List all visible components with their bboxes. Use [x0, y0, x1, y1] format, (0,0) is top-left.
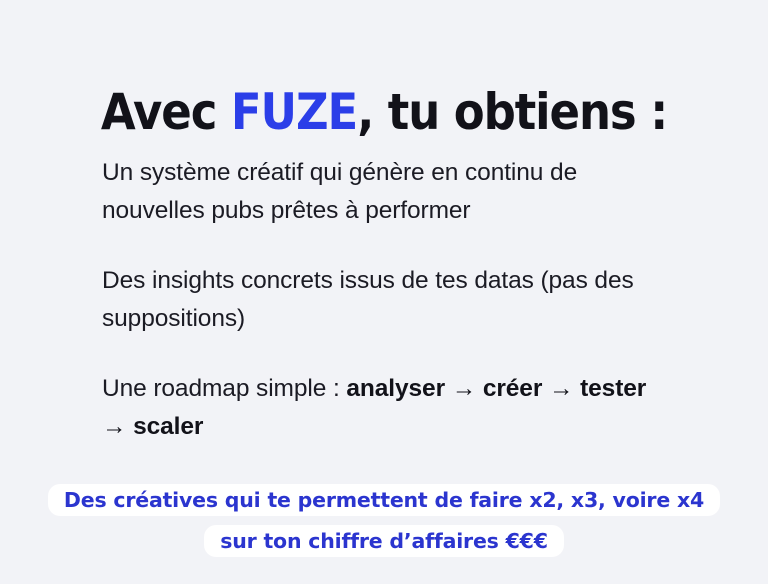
banner-line-two: sur ton chiffre d’affaires €€€ — [0, 523, 768, 560]
brand-name-fuze: FUZE — [231, 83, 357, 141]
title-text-before-brand: Avec — [101, 83, 231, 141]
paragraph-roadmap-lead: Une roadmap simple : — [102, 375, 346, 402]
banner-line-one: Des créatives qui te permettent de faire… — [0, 482, 768, 519]
paragraph-insights-text: Des insights concrets issus de tes datas… — [102, 267, 634, 332]
highlight-banner: Des créatives qui te permettent de faire… — [0, 482, 768, 560]
paragraph-insights: Des insights concrets issus de tes datas… — [102, 262, 674, 338]
paragraph-roadmap: Une roadmap simple : analyser → créer → … — [102, 370, 674, 446]
paragraph-system: Un système créatif qui génère en continu… — [102, 154, 674, 230]
benefits-list: Un système créatif qui génère en continu… — [102, 154, 674, 446]
slide-container: Avec FUZE, tu obtiens : Un système créat… — [0, 0, 768, 584]
banner-line-two-text: sur ton chiffre d’affaires €€€ — [204, 525, 564, 557]
banner-line-one-text: Des créatives qui te permettent de faire… — [48, 484, 720, 516]
page-title: Avec FUZE, tu obtiens : — [38, 82, 729, 142]
title-text-after-brand: , tu obtiens : — [357, 83, 667, 141]
paragraph-system-text: Un système créatif qui génère en continu… — [102, 159, 577, 224]
